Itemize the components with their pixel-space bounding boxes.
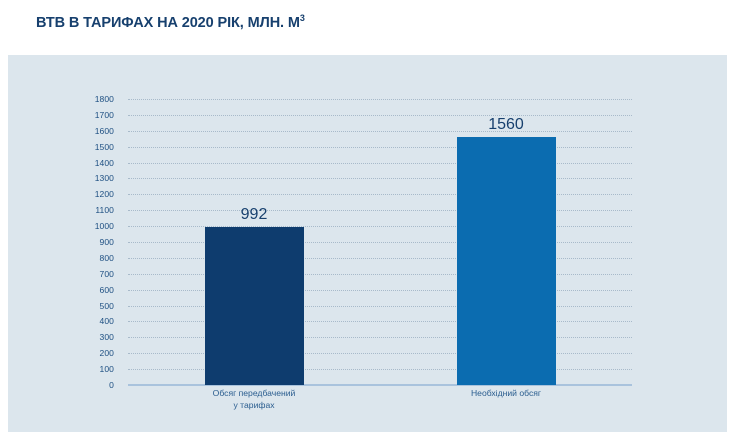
y-axis-tick-label: 100	[100, 364, 114, 374]
y-axis-tick-label: 800	[100, 253, 114, 263]
y-axis-tick-label: 1100	[95, 205, 114, 215]
y-axis-tick-label: 500	[100, 301, 114, 311]
x-axis-labels: Обсяг передбаченийу тарифахНеобхідний об…	[128, 388, 632, 428]
y-axis-tick-label: 1000	[95, 221, 114, 231]
y-axis-tick-label: 1600	[95, 126, 114, 136]
bar-value-label: 992	[241, 206, 268, 224]
y-axis-tick-label: 1300	[95, 173, 114, 183]
y-axis-tick-label: 1700	[95, 110, 114, 120]
bar-value-label: 1560	[488, 116, 524, 134]
y-axis-tick-label: 1200	[95, 189, 114, 199]
x-axis-category-line: Обсяг передбачений	[213, 388, 296, 400]
y-axis-tick-label: 0	[109, 380, 114, 390]
plot-area: 9921560	[128, 99, 632, 385]
y-axis-tick-label: 1800	[95, 94, 114, 104]
page-title-text: ВТВ В ТАРИФАХ НА 2020 РІК, МЛН. М	[36, 15, 300, 31]
y-axis-tick-label: 1400	[95, 158, 114, 168]
y-axis-tick-label: 600	[100, 285, 114, 295]
y-axis-tick-label: 700	[100, 269, 114, 279]
bar[interactable]: 1560	[457, 137, 556, 385]
page-title: ВТВ В ТАРИФАХ НА 2020 РІК, МЛН. М3	[36, 13, 305, 31]
y-axis-labels: 1800170016001500140013001200110010009008…	[8, 99, 120, 385]
y-axis-tick-label: 300	[100, 332, 114, 342]
y-axis-tick-label: 200	[100, 348, 114, 358]
x-axis-category-line: у тарифах	[213, 400, 296, 412]
y-axis-tick-label: 1500	[95, 142, 114, 152]
bar[interactable]: 992	[205, 227, 304, 385]
chart-panel: 1800170016001500140013001200110010009008…	[8, 55, 727, 432]
bar-series: 9921560	[128, 99, 632, 385]
x-axis-category-line: Необхідний обсяг	[471, 388, 541, 400]
page-title-superscript: 3	[300, 13, 305, 23]
chart-page: ВТВ В ТАРИФАХ НА 2020 РІК, МЛН. М3 18001…	[0, 0, 735, 440]
y-axis-tick-label: 900	[100, 237, 114, 247]
x-axis-category-label: Обсяг передбаченийу тарифах	[213, 388, 296, 411]
y-axis-tick-label: 400	[100, 316, 114, 326]
x-axis-category-label: Необхідний обсяг	[471, 388, 541, 400]
